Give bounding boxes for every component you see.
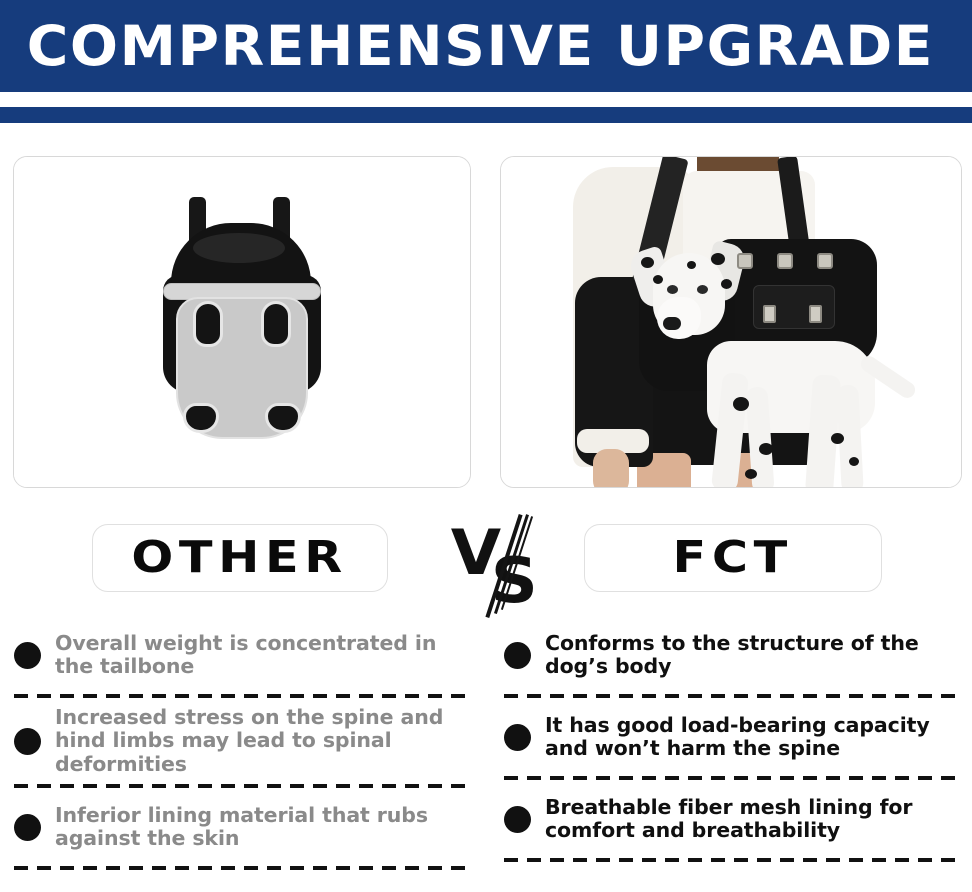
carrier-rear-leg-hole-right	[265, 403, 301, 433]
dog-spot	[849, 457, 859, 466]
bullet-dot-icon	[14, 642, 41, 669]
versus-row: OTHER V S FCT	[0, 524, 972, 606]
infographic-page: COMPREHENSIVE UPGRADE	[0, 0, 972, 892]
dog-spot	[653, 275, 663, 284]
list-item-label: Breathable fiber mesh lining for comfort…	[545, 796, 964, 843]
list-item: Breathable fiber mesh lining for comfort…	[504, 784, 964, 856]
person-hand	[593, 449, 629, 488]
bullet-dot-icon	[504, 806, 531, 833]
carrier-pocket-buckle-2	[809, 305, 822, 323]
product-photo-card-other	[13, 156, 471, 488]
list-item-label: Conforms to the structure of the dog’s b…	[545, 632, 964, 679]
carrier-hood-highlight	[193, 233, 285, 263]
page-title: COMPREHENSIVE UPGRADE	[0, 19, 934, 74]
dog-spot	[711, 253, 725, 265]
list-item: Inferior lining material that rubs again…	[14, 792, 474, 864]
list-item-label: Overall weight is concentrated in the ta…	[55, 632, 474, 679]
dog-eye-right	[697, 285, 708, 294]
mesh-pet-carrier-illustration	[157, 197, 327, 447]
dog-spot	[733, 397, 749, 411]
dashed-divider	[14, 784, 474, 788]
product-photo-card-fct	[500, 156, 962, 488]
dog-nose	[663, 317, 681, 330]
comparison-column-other: Overall weight is concentrated in the ta…	[14, 620, 474, 874]
brand-label-fct: FCT	[584, 524, 882, 592]
bullet-dot-icon	[14, 814, 41, 841]
brand-label-other: OTHER	[92, 524, 388, 592]
comparison-column-fct: Conforms to the structure of the dog’s b…	[504, 620, 964, 866]
product-photo-other	[14, 157, 470, 487]
header-accent-rule	[0, 107, 972, 123]
lifestyle-photo-illustration	[501, 157, 961, 487]
photo-card-row	[0, 156, 972, 488]
comparison-section: Overall weight is concentrated in the ta…	[0, 620, 972, 892]
vs-icon: V S	[452, 516, 548, 618]
list-item-label: Inferior lining material that rubs again…	[55, 804, 474, 851]
dog-spot	[759, 443, 773, 455]
carrier-front-leg-hole-left	[193, 301, 223, 347]
dog-eye-left	[667, 285, 678, 294]
product-photo-fct	[501, 157, 961, 487]
list-item-label: Increased stress on the spine and hind l…	[55, 706, 474, 776]
brand-label-other-text: OTHER	[132, 536, 348, 580]
carrier-buckle-3	[817, 253, 833, 269]
carrier-rear-leg-hole-left	[183, 403, 219, 433]
dog-spot	[721, 279, 732, 289]
dog-spot	[641, 257, 654, 268]
header-banner: COMPREHENSIVE UPGRADE	[0, 0, 972, 92]
dashed-divider	[504, 858, 964, 862]
carrier-front-leg-hole-right	[261, 301, 291, 347]
dashed-divider	[504, 776, 964, 780]
list-item: Conforms to the structure of the dog’s b…	[504, 620, 964, 692]
bullet-dot-icon	[504, 642, 531, 669]
dog-spot	[745, 469, 757, 479]
bullet-dot-icon	[504, 724, 531, 751]
dashed-divider	[14, 866, 474, 870]
dog-spot	[831, 433, 844, 444]
bullet-dot-icon	[14, 728, 41, 755]
list-item: Increased stress on the spine and hind l…	[14, 702, 474, 782]
list-item: It has good load-bearing capacity and wo…	[504, 702, 964, 774]
dog-spot	[687, 261, 696, 269]
dashed-divider	[14, 694, 474, 698]
carrier-buckle-2	[777, 253, 793, 269]
dashed-divider	[504, 694, 964, 698]
list-item: Overall weight is concentrated in the ta…	[14, 620, 474, 692]
carrier-buckle-1	[737, 253, 753, 269]
list-item-label: It has good load-bearing capacity and wo…	[545, 714, 964, 761]
carrier-pocket-buckle-1	[763, 305, 776, 323]
brand-label-fct-text: FCT	[673, 536, 793, 580]
